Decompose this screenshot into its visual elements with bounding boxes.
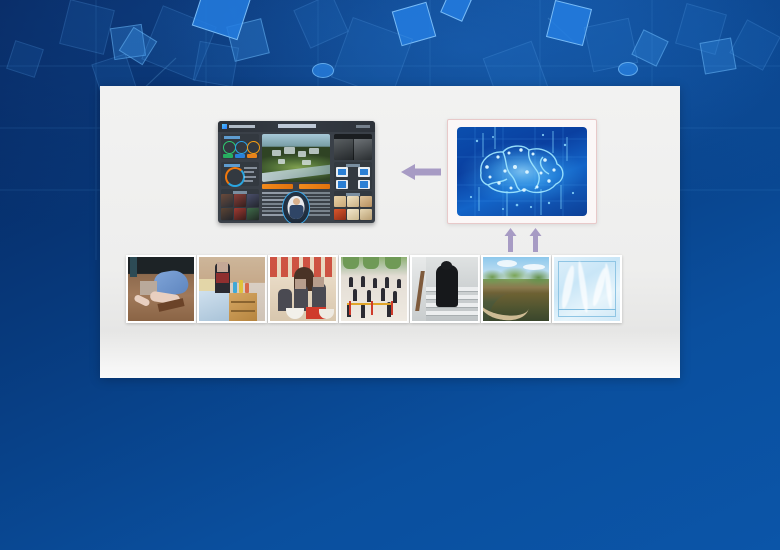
scene-willows (483, 265, 549, 287)
arrow-left-icon (399, 163, 441, 181)
device-icon-grid[interactable] (336, 167, 370, 189)
gallery-thumbnail-grid[interactable] (334, 196, 372, 220)
scene-barrier (347, 303, 393, 305)
dashboard-right-column (334, 134, 372, 221)
dashboard-card[interactable] (218, 121, 375, 223)
scene-step (426, 311, 478, 316)
map-building (278, 159, 285, 164)
photo-image (412, 257, 478, 321)
camera-feed[interactable] (334, 134, 372, 160)
decor-square (193, 41, 239, 87)
avatar (288, 196, 305, 219)
dashboard-brand-label (229, 125, 255, 128)
device-icon[interactable] (336, 180, 348, 190)
scene-person (361, 304, 365, 318)
scene-bowl (319, 309, 334, 319)
scene-person (393, 291, 397, 303)
dashboard-title-label (278, 124, 316, 128)
scene-tree (363, 257, 379, 269)
slide-canvas (0, 0, 780, 550)
scene-bottle (245, 283, 249, 293)
scene-person (373, 278, 377, 288)
photo-festive-room[interactable] (268, 255, 338, 323)
face-thumbnail[interactable] (234, 194, 246, 207)
scene-blurred-face (295, 279, 306, 289)
arrow-up-icon (504, 228, 517, 252)
scene-cabinet (229, 293, 257, 321)
ai-brain-image (457, 127, 587, 216)
gallery-thumbnail[interactable] (360, 196, 372, 207)
decor-square (699, 37, 736, 74)
map-building (284, 147, 295, 154)
photo-image (554, 257, 620, 321)
gallery-thumbnail[interactable] (347, 196, 359, 207)
scene-person (349, 277, 353, 287)
neural-network-icon (457, 127, 587, 216)
device-icon[interactable] (358, 180, 370, 190)
map-building (298, 151, 306, 157)
map-building (272, 150, 281, 156)
gallery-thumbnail[interactable] (334, 209, 346, 220)
scene-tree (385, 257, 401, 269)
scene-photo-strip (126, 255, 682, 323)
person-avatar[interactable] (282, 191, 310, 223)
scene-tree (343, 257, 359, 269)
scene-blurred-face (313, 277, 324, 287)
donut-panel-caption (224, 164, 240, 167)
scene-post (349, 301, 351, 315)
bar-right-label[interactable] (299, 184, 330, 189)
photo-blue-scan[interactable] (552, 255, 622, 323)
face-thumbnail[interactable] (247, 208, 259, 221)
button-green[interactable] (223, 154, 233, 158)
dashboard-header (218, 121, 375, 132)
ai-brain-card[interactable] (447, 119, 597, 224)
face-thumbnail-grid[interactable] (221, 194, 259, 220)
gallery-thumbnail[interactable] (334, 196, 346, 207)
device-icon[interactable] (336, 167, 348, 177)
dashboard-status-label (356, 125, 370, 128)
donut-chart (225, 167, 245, 187)
map-building (302, 160, 311, 165)
face-thumbnail[interactable] (221, 208, 233, 221)
face-thumbnail[interactable] (234, 208, 246, 221)
camera-frame-right (354, 139, 372, 160)
scene-path (483, 285, 531, 321)
photo-image (341, 257, 407, 321)
scene-bowl (286, 308, 304, 319)
gauge-blue (235, 141, 248, 154)
scene-person (381, 288, 385, 301)
scene-person (361, 276, 365, 287)
photo-image (483, 257, 549, 321)
scene-post (391, 301, 393, 315)
scene-person (353, 289, 357, 301)
photo-image (199, 257, 265, 321)
gauge-panel[interactable] (221, 134, 259, 159)
gauge-orange (247, 141, 260, 154)
photo-fall-detection[interactable] (126, 255, 196, 323)
gauge-green (223, 141, 236, 154)
photo-stairs-walking[interactable] (410, 255, 480, 323)
campus-3d-map[interactable] (262, 134, 330, 182)
dashboard-left-column (221, 134, 259, 221)
photo-bedroom-care[interactable] (197, 255, 267, 323)
photo-image (128, 257, 194, 321)
map-building (309, 148, 319, 154)
face-thumbnail[interactable] (247, 194, 259, 207)
scene-arm (133, 294, 150, 307)
gauge-panel-caption (224, 136, 240, 139)
scene-bottle (239, 280, 243, 293)
decor-ellipse (618, 62, 638, 76)
donut-legend (244, 167, 257, 185)
device-icon[interactable] (358, 167, 370, 177)
camera-frame-left (334, 139, 353, 160)
gallery-thumbnail[interactable] (347, 209, 359, 220)
scene-post (371, 301, 373, 315)
button-blue[interactable] (235, 154, 245, 158)
scene-person (385, 277, 389, 288)
photo-image (270, 257, 336, 321)
photo-plaza-crowd[interactable] (339, 255, 409, 323)
button-orange[interactable] (247, 154, 257, 158)
scene-blurred-face (217, 262, 228, 272)
center-bar-row (262, 184, 330, 190)
scene-person (436, 265, 458, 307)
scene-bottle (233, 282, 237, 293)
scene-head (441, 261, 452, 270)
gallery-thumbnail[interactable] (360, 209, 372, 220)
scene-vest (216, 273, 229, 283)
map-road (262, 164, 330, 182)
bar-left-label[interactable] (262, 184, 293, 189)
dashboard-logo-icon (222, 124, 227, 129)
scene-bed (199, 291, 229, 321)
arrow-up-icon (529, 228, 542, 252)
photo-riverside-park[interactable] (481, 255, 551, 323)
decor-ellipse (312, 63, 334, 78)
dashboard-center-column (262, 134, 330, 221)
dashboard-body (218, 132, 375, 223)
scene-person (397, 279, 401, 288)
scene-wall (130, 257, 137, 277)
face-thumbnail[interactable] (221, 194, 233, 207)
